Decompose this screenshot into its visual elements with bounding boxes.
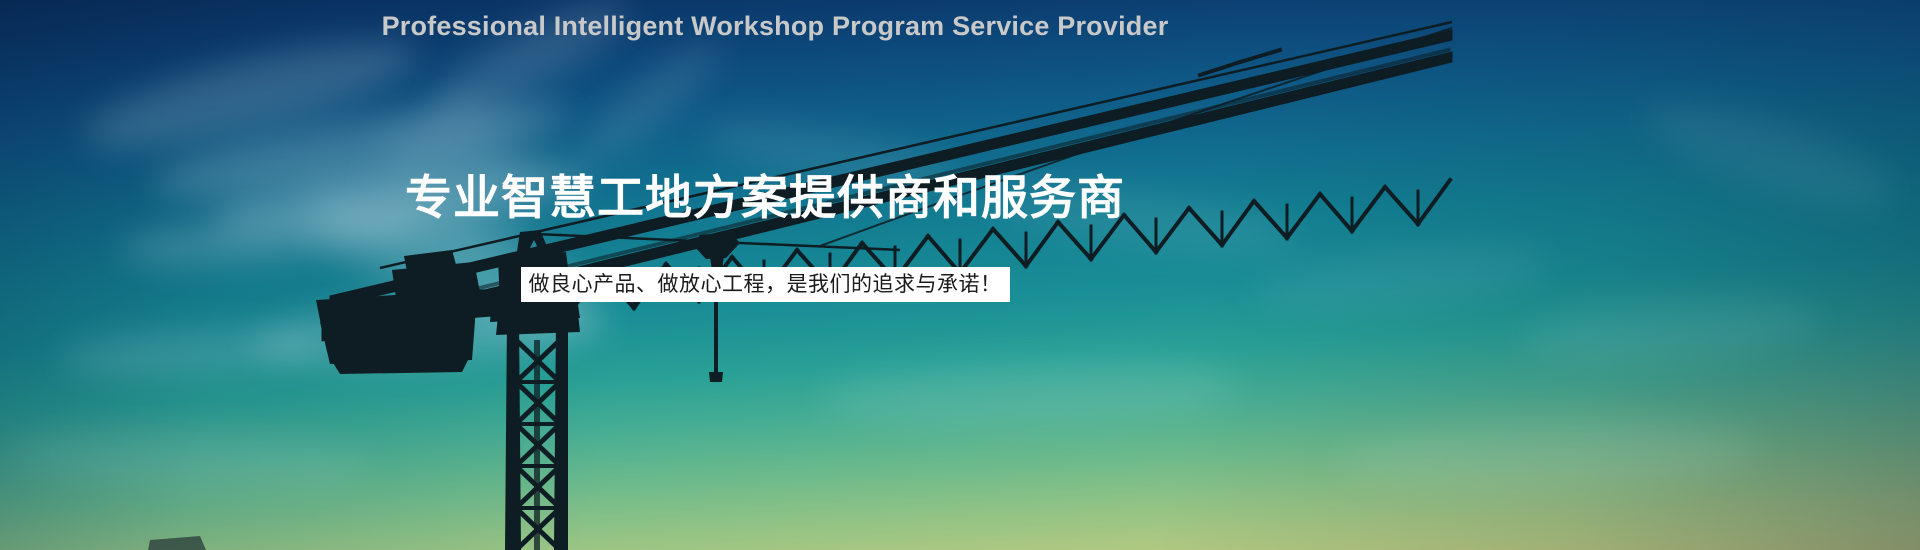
crane-hook-icon [694, 232, 740, 382]
crane-counterweight-icon [316, 250, 498, 374]
hero-banner: Professional Intelligent Workshop Progra… [0, 0, 1920, 550]
banner-headline-chinese: 专业智慧工地方案提供商和服务商 [0, 159, 1530, 228]
banner-eyebrow-english: Professional Intelligent Workshop Progra… [0, 11, 1550, 42]
crane-mast-icon [496, 313, 580, 550]
banner-tagline: 做良心产品、做放心工程，是我们的追求与承诺！ [521, 267, 1010, 302]
ground-object-icon [148, 536, 206, 550]
